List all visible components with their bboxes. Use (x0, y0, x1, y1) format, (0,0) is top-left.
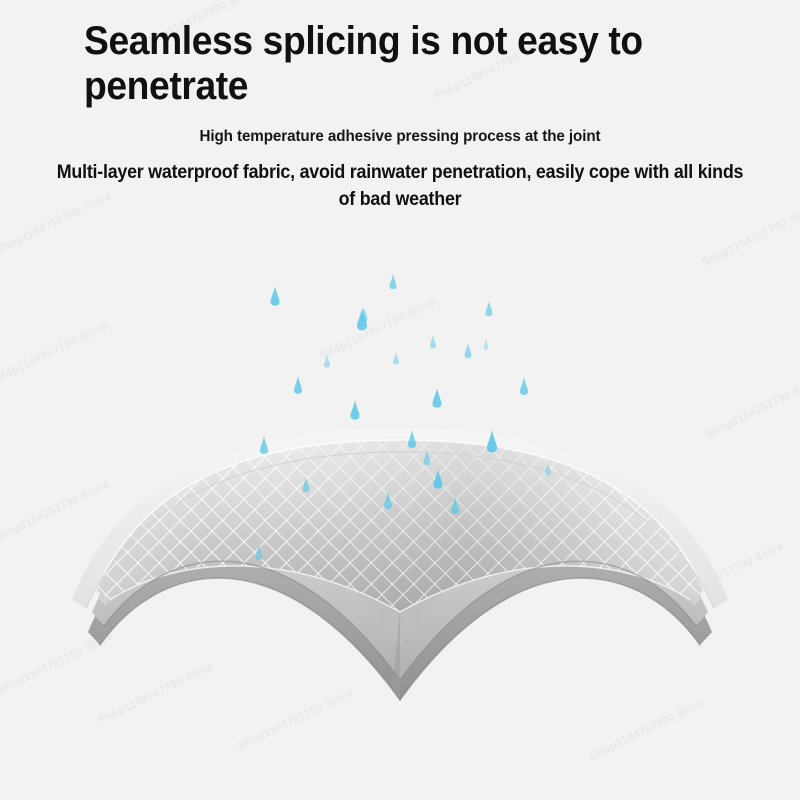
raindrop (430, 335, 436, 348)
page-title: Seamless splicing is not easy to penetra… (84, 19, 698, 109)
subtitle-primary: High temperature adhesive pressing proce… (20, 128, 780, 146)
raindrop (393, 352, 399, 365)
raindrop (294, 376, 302, 394)
subtitle-secondary: Multi-layer waterproof fabric, avoid rai… (47, 160, 754, 214)
raindrop (484, 339, 489, 350)
raindrop (433, 388, 442, 408)
raindrop (324, 355, 330, 368)
raindrop (351, 400, 360, 420)
raindrop (520, 377, 528, 395)
fabric-mesh-surface (60, 420, 750, 640)
raindrop (271, 286, 280, 306)
raindrop (465, 343, 472, 358)
raindrop (390, 274, 397, 289)
waterproof-fabric-illustration (0, 0, 800, 800)
product-feature-banner: Seamless splicing is not easy to penetra… (0, 0, 800, 800)
raindrop (486, 301, 493, 316)
